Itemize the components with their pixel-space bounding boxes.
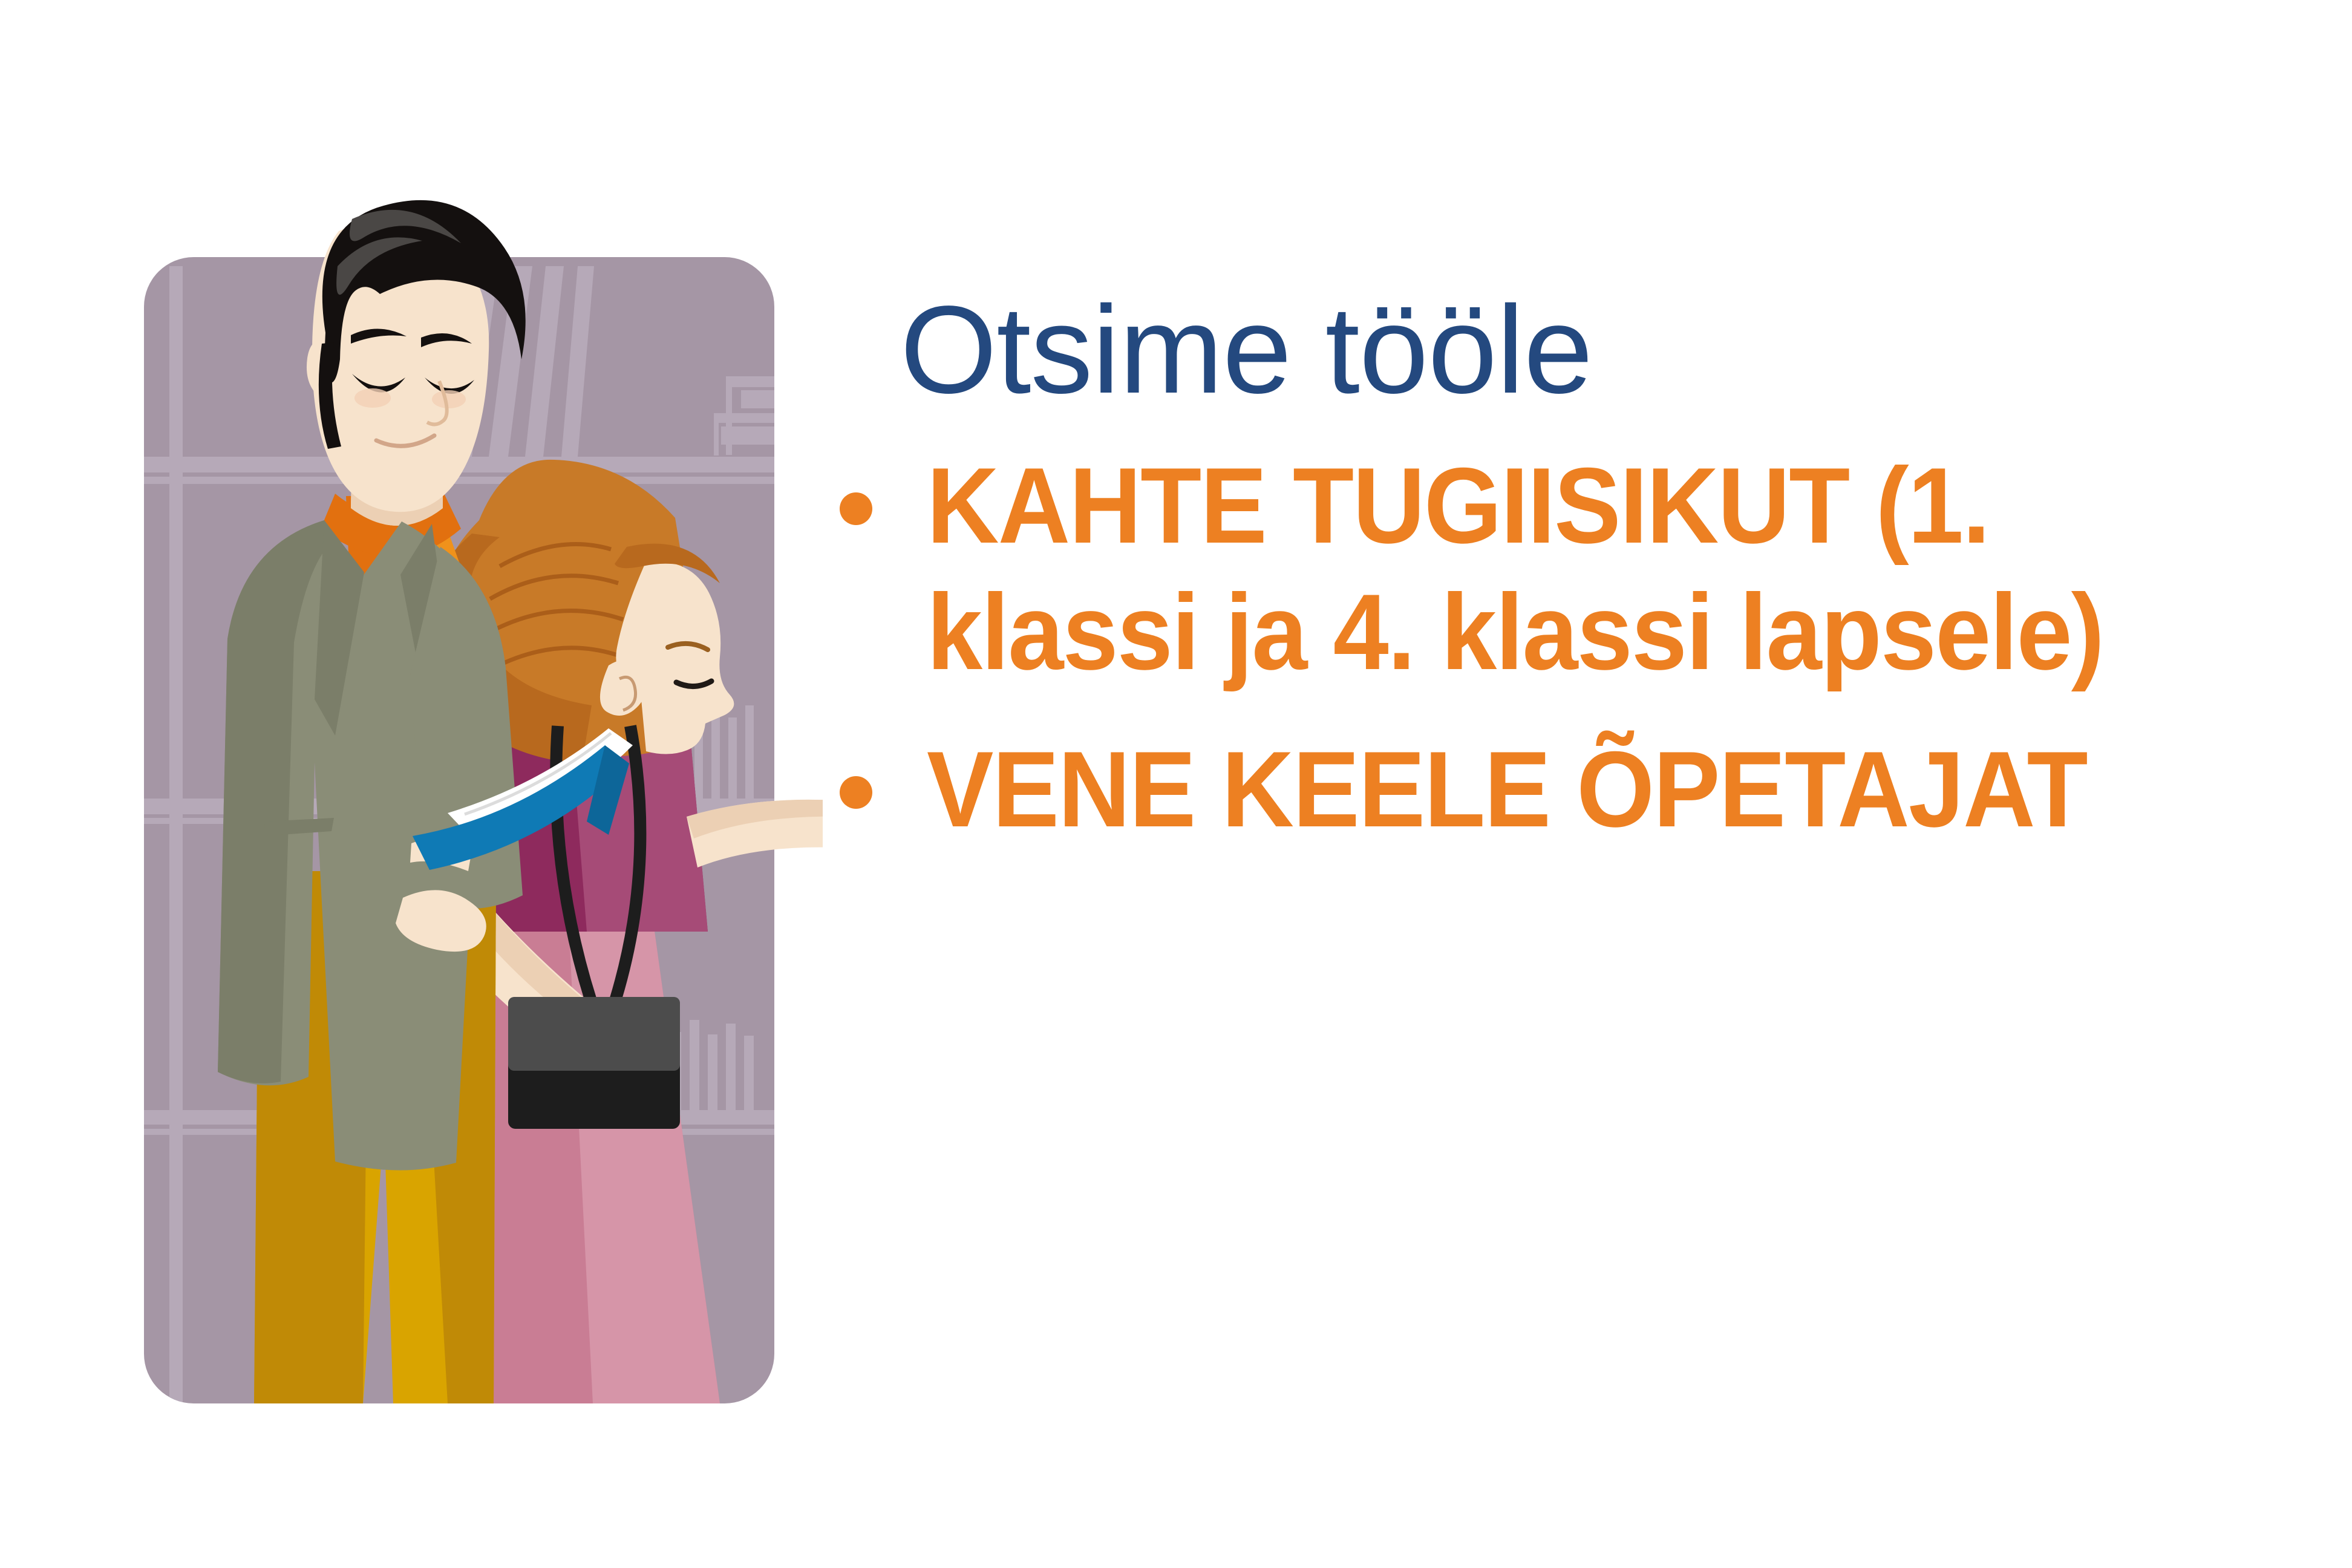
bullet-dot-icon: [840, 776, 872, 809]
job-opening-label: KAHTE TUGIISIKUT (1. klassi ja 4. klassi…: [927, 443, 2203, 695]
recruitment-poster: Otsime tööle KAHTE TUGIISIKUT (1. klassi…: [0, 0, 2352, 1568]
list-item: VENE KEELE ÕPETAJAT: [835, 727, 2299, 852]
cheek-right: [432, 390, 466, 408]
cheek-left: [354, 388, 391, 408]
bag-flap: [508, 997, 680, 1071]
poster-text-block: Otsime tööle KAHTE TUGIISIKUT (1. klassi…: [835, 284, 2299, 852]
list-item: KAHTE TUGIISIKUT (1. klassi ja 4. klassi…: [835, 443, 2299, 695]
library-illustration: [109, 181, 823, 1440]
job-openings-list: KAHTE TUGIISIKUT (1. klassi ja 4. klassi…: [835, 443, 2299, 852]
page-title: Otsime tööle: [900, 284, 2299, 415]
bullet-dot-icon: [840, 492, 872, 525]
job-opening-label: VENE KEELE ÕPETAJAT: [927, 727, 2203, 852]
